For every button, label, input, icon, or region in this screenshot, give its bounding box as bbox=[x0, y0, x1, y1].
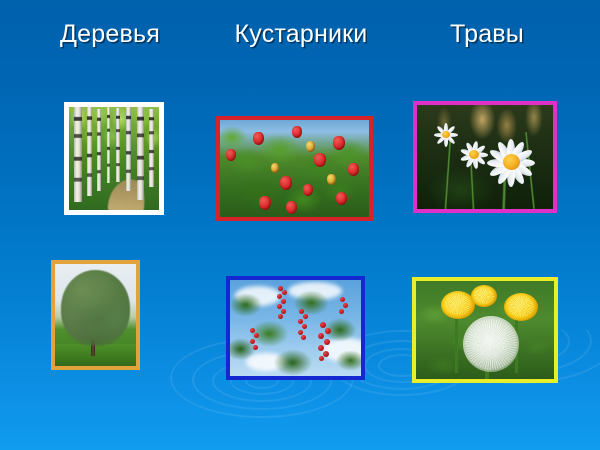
birch-trunk bbox=[74, 107, 81, 202]
raspberry-berry bbox=[333, 136, 345, 150]
photo-frame-currant bbox=[226, 276, 365, 380]
photo-birch-forest bbox=[69, 107, 159, 210]
currant-berry bbox=[254, 333, 259, 338]
birch-canopy-foliage bbox=[69, 107, 159, 183]
raspberry-berry bbox=[314, 153, 326, 167]
birch-trunk bbox=[149, 109, 154, 187]
column-heading-shrubs: Кустарники bbox=[235, 20, 368, 49]
birch-trunk bbox=[107, 107, 111, 183]
currant-berry bbox=[250, 339, 255, 344]
daisy-center bbox=[442, 131, 450, 138]
currant-berry bbox=[320, 322, 326, 328]
currant-berry bbox=[253, 345, 258, 350]
currant-berry bbox=[299, 309, 304, 314]
slide-canvas: Деревья Кустарники Травы bbox=[0, 0, 600, 450]
birch-trunk bbox=[97, 109, 102, 191]
photo-single-tree bbox=[55, 264, 136, 366]
currant-cluster bbox=[316, 322, 332, 362]
tree-lawn bbox=[55, 344, 136, 366]
birch-trunk bbox=[116, 108, 121, 182]
currant-berry bbox=[324, 339, 330, 345]
daisy-flower-small bbox=[433, 124, 459, 146]
dandelion-stem bbox=[455, 314, 458, 373]
raspberry-unripe-berry bbox=[271, 163, 279, 173]
photo-frame-raspberry bbox=[216, 116, 373, 221]
currant-berry bbox=[340, 297, 345, 302]
raspberry-berry bbox=[253, 132, 264, 145]
photo-frame-tree bbox=[51, 260, 140, 370]
currant-berry bbox=[298, 330, 303, 335]
dandelion-flower-yellow bbox=[504, 293, 538, 321]
currant-berry bbox=[281, 309, 286, 314]
currant-cluster bbox=[275, 286, 289, 322]
raspberry-berry bbox=[259, 196, 271, 210]
currant-berry bbox=[319, 356, 324, 361]
column-headings: Деревья Кустарники Травы bbox=[0, 0, 600, 72]
currant-cluster bbox=[296, 309, 310, 343]
currant-berry bbox=[339, 309, 344, 314]
currant-berry bbox=[298, 319, 303, 324]
photo-red-currant bbox=[230, 280, 361, 376]
currant-berry bbox=[325, 328, 331, 334]
dandelion-seed-head bbox=[463, 316, 519, 372]
currant-berry bbox=[282, 290, 287, 295]
photo-daisies bbox=[417, 105, 553, 209]
column-heading-trees: Деревья bbox=[60, 20, 160, 49]
currant-berry bbox=[277, 304, 282, 309]
currant-berry bbox=[278, 314, 283, 319]
column-heading-herbs: Травы bbox=[450, 20, 524, 49]
currant-berry bbox=[318, 345, 324, 351]
currant-cluster bbox=[337, 297, 350, 321]
raspberry-berry bbox=[292, 126, 302, 138]
raspberry-berry bbox=[286, 201, 297, 214]
photo-raspberry-bush bbox=[220, 120, 369, 217]
currant-cluster bbox=[248, 328, 261, 354]
daisy-flower-large bbox=[484, 140, 538, 186]
dandelion-flower-yellow bbox=[441, 291, 475, 319]
raspberry-berry bbox=[348, 163, 359, 176]
currant-berry bbox=[318, 333, 324, 339]
currant-berry bbox=[302, 324, 307, 329]
raspberry-berry bbox=[226, 149, 236, 161]
currant-berry bbox=[277, 294, 282, 299]
currant-berry bbox=[281, 299, 286, 304]
raspberry-berry bbox=[280, 176, 292, 190]
photo-frame-birch bbox=[64, 102, 164, 215]
photo-frame-daisy bbox=[413, 101, 557, 213]
photo-frame-dandelion bbox=[412, 277, 558, 383]
currant-berry bbox=[343, 303, 348, 308]
tree-crown-foliage bbox=[61, 270, 129, 345]
birch-trunk bbox=[137, 107, 143, 200]
photo-dandelions bbox=[416, 281, 554, 379]
daisy-center bbox=[503, 154, 520, 170]
currant-berry bbox=[301, 335, 306, 340]
dandelion-flower-yellow bbox=[471, 285, 497, 307]
raspberry-berry bbox=[336, 192, 347, 205]
birch-trunk bbox=[126, 107, 131, 191]
currant-berry bbox=[323, 351, 329, 357]
currant-berry bbox=[303, 314, 308, 319]
birch-trunk bbox=[87, 107, 92, 196]
